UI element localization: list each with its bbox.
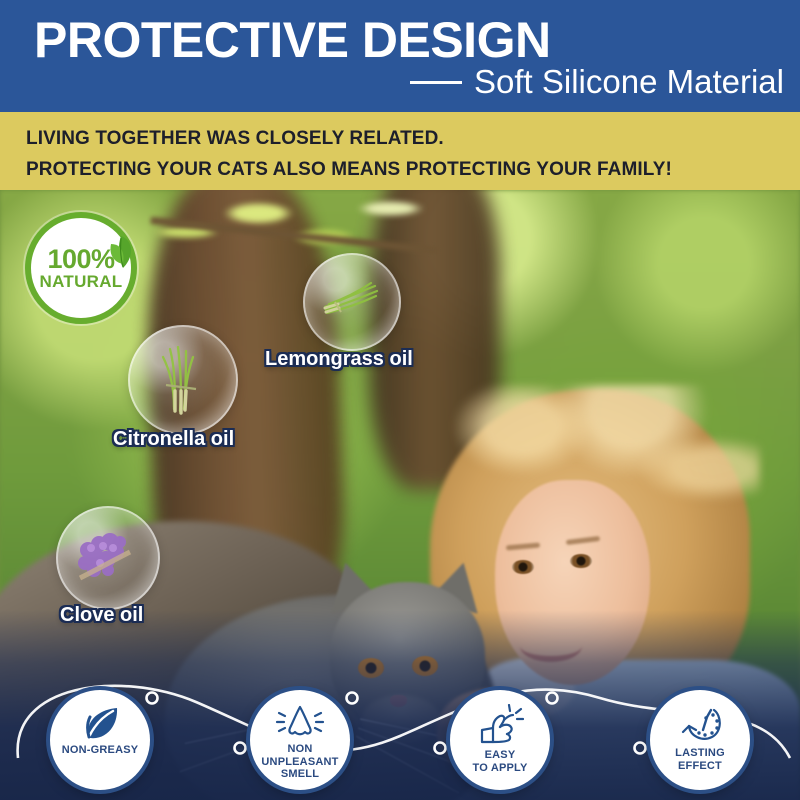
em-dash-divider [410, 81, 462, 84]
feature-label-non: NON [287, 743, 312, 756]
feature-label-non-greasy: NON-GREASY [62, 744, 139, 757]
subheader-line-1: LIVING TOGETHER WAS CLOSELY RELATED. [26, 128, 444, 150]
natural-badge-word: NATURAL [40, 272, 123, 291]
product-infographic: PROTECTIVE DESIGN Soft Silicone Material… [0, 0, 800, 800]
feature-label-lasting: LASTING [675, 747, 725, 760]
subheader-line-2: PROTECTING YOUR CATS ALSO MEANS PROTECTI… [26, 159, 672, 181]
feature-label-easy: EASY [485, 749, 516, 762]
natural-badge: 100% NATURAL [25, 212, 137, 324]
header-banner: PROTECTIVE DESIGN Soft Silicone Material [0, 0, 800, 112]
feature-label-to-apply: TO APPLY [473, 762, 528, 775]
feature-lasting-effect[interactable]: LASTING EFFECT [650, 690, 750, 790]
header-subtitle-group: Soft Silicone Material [410, 64, 784, 100]
page-title: PROTECTIVE DESIGN [34, 14, 551, 66]
feature-label-effect: EFFECT [678, 760, 722, 773]
snap-fingers-icon [476, 704, 524, 746]
feature-easy-to-apply[interactable]: EASY TO APPLY [450, 690, 550, 790]
ingredient-label-clove: Clove oil [60, 604, 143, 627]
feature-label-smell: SMELL [281, 768, 319, 781]
subheader-banner: LIVING TOGETHER WAS CLOSELY RELATED. PRO… [0, 112, 800, 190]
ingredient-label-citronella: Citronella oil [113, 428, 234, 451]
ingredient-label-lemongrass: Lemongrass oil [265, 348, 413, 371]
leaf-icon [78, 704, 122, 744]
clock-arrow-icon [676, 704, 724, 744]
leaf-icon [105, 234, 135, 274]
ingredient-bubble-lemongrass [303, 253, 401, 351]
ingredient-bubble-clove [56, 506, 160, 610]
clove-flower-icon [58, 508, 158, 608]
feature-non-unpleasant-smell[interactable]: NON UNPLEASANT SMELL [250, 690, 350, 790]
nose-icon [275, 704, 325, 740]
ingredient-bubble-citronella [128, 325, 238, 435]
header-subtitle: Soft Silicone Material [474, 64, 784, 100]
feature-non-greasy[interactable]: NON-GREASY [50, 690, 150, 790]
feature-label-unpleasant: UNPLEASANT [261, 756, 338, 769]
citronella-bundle-icon [130, 327, 236, 433]
lemongrass-bundle-icon [305, 255, 399, 349]
girl-hair-wisps [420, 385, 760, 595]
